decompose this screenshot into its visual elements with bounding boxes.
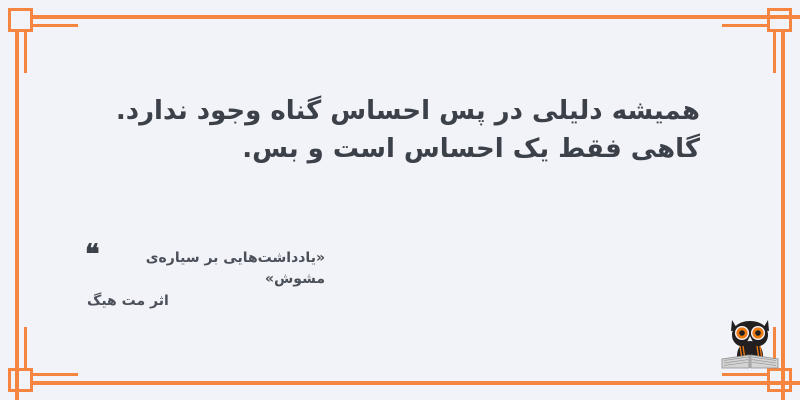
frame-line-bottom-outer [30, 381, 800, 385]
corner-square-top-left [8, 8, 33, 32]
attribution-block: ❝ «یادداشت‌هایی بر سیاره‌ی مشوش» اثر مت … [85, 248, 325, 312]
quote-text-block: همیشه دلیلی در پس احساس گناه وجود ندارد.… [100, 92, 700, 168]
attribution-author: اثر مت هیگ [85, 291, 325, 312]
frame-line-top-left-inner [30, 24, 78, 27]
attribution-source-title: «یادداشت‌هایی بر سیاره‌ی مشوش» [108, 248, 325, 290]
frame-line-left-top-inner [24, 30, 27, 73]
frame-line-top-right-inner [722, 24, 770, 27]
frame-line-left-bottom-inner [24, 327, 27, 370]
owl-on-book-logo [718, 308, 782, 372]
corner-square-bottom-left [8, 368, 33, 392]
quote-line-1: همیشه دلیلی در پس احساس گناه وجود ندارد. [100, 92, 700, 130]
frame-line-bottom-left-inner [30, 373, 78, 376]
frame-line-top-outer [30, 15, 800, 19]
frame-line-bottom-right-inner [722, 373, 770, 376]
frame-line-left-outer [15, 30, 19, 400]
corner-square-top-right [767, 8, 792, 32]
quote-card: همیشه دلیلی در پس احساس گناه وجود ندارد.… [0, 0, 800, 400]
owl-icon [718, 308, 782, 372]
frame-line-right-top-inner [773, 30, 776, 73]
quote-line-2: گاهی فقط یک احساس است و بس. [100, 130, 700, 168]
quotation-mark-icon: ❝ [85, 246, 100, 264]
attribution-source-row: ❝ «یادداشت‌هایی بر سیاره‌ی مشوش» [85, 248, 325, 290]
